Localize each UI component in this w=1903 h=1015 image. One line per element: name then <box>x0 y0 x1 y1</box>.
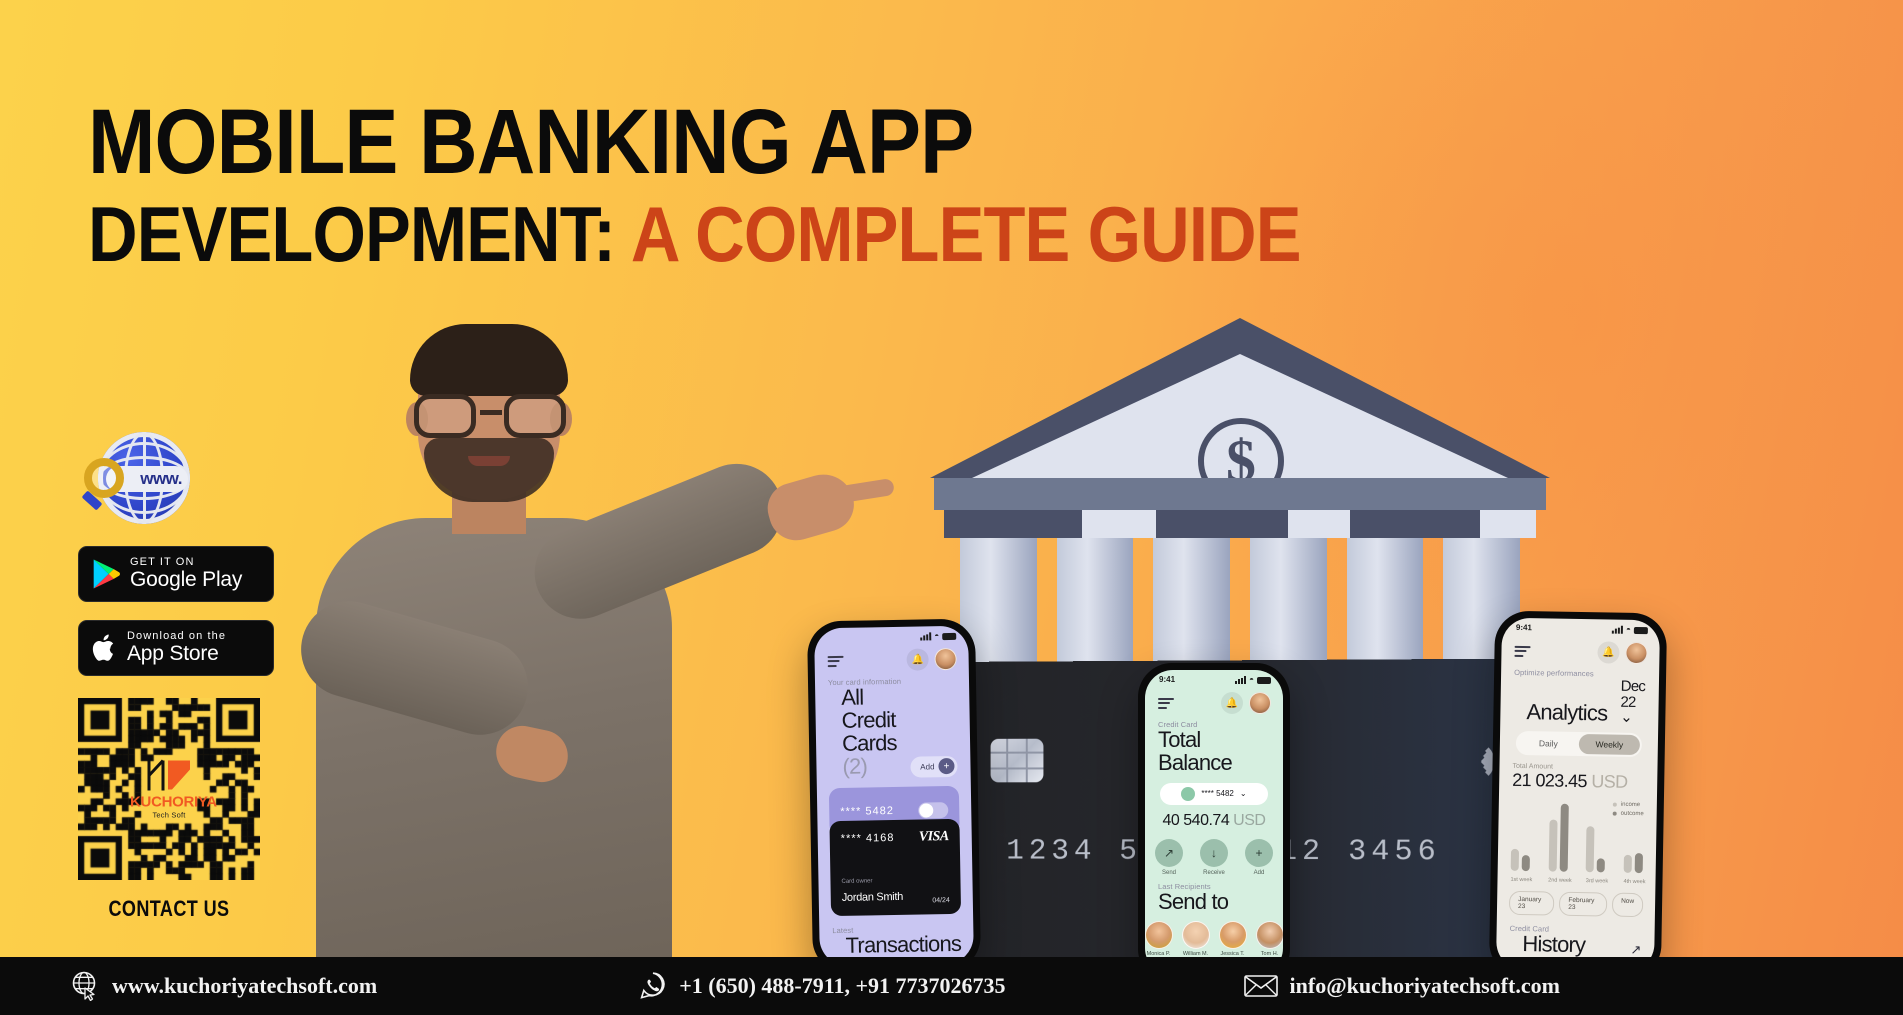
presenter-index-finger <box>839 478 895 503</box>
bar-outcome <box>1522 855 1530 871</box>
emv-chip-icon <box>991 739 1044 783</box>
bar-category-label: 1st week <box>1510 877 1532 883</box>
phone1-screen: ◓ 🔔 Your card information All Credit Car… <box>814 626 974 967</box>
recipient-name: William M. <box>1182 951 1210 957</box>
card-owner-label: Card owner <box>841 878 872 885</box>
avatar <box>1256 921 1284 949</box>
tab-weekly[interactable]: Weekly <box>1579 734 1640 755</box>
qr-center-logo: KUCHORIYA Tech Soft <box>130 759 208 820</box>
avatar[interactable] <box>1625 642 1647 664</box>
pill-january[interactable]: January 23 <box>1509 891 1555 916</box>
recipient-name: Tom H. <box>1256 951 1284 957</box>
wifi-icon: ◓ <box>1626 624 1631 633</box>
phone3-history-title: History <box>1509 933 1598 957</box>
menu-icon[interactable] <box>1158 698 1174 709</box>
bar-group: 2nd week <box>1548 803 1568 871</box>
recipient-name: Monica P. <box>1145 951 1173 957</box>
phone3-history-header: History ↗ <box>1496 932 1654 958</box>
apple-icon <box>91 632 118 664</box>
list-item[interactable]: Jessica T. <box>1219 921 1247 957</box>
phone1-transactions-title: Transactions <box>832 932 974 957</box>
phone1-title: All Credit Cards (2) <box>828 686 910 779</box>
qr-brand-tagline: Tech Soft <box>130 811 208 820</box>
card-selector-dropdown[interactable]: **** 5482 ⌄ <box>1160 783 1268 805</box>
presenter-mouth <box>468 456 510 466</box>
bar-income <box>1624 855 1632 873</box>
bank-architrave <box>934 478 1546 510</box>
phone3-title: Analytics <box>1513 701 1620 726</box>
google-play-top-label: GET IT ON <box>130 557 242 569</box>
footer-website[interactable]: www.kuchoriyatechsoft.com <box>72 971 377 1001</box>
card-toggle[interactable] <box>918 802 948 819</box>
bar-outcome <box>1597 858 1605 872</box>
tab-daily[interactable]: Daily <box>1518 733 1579 754</box>
bar-group: 1st week <box>1511 849 1530 871</box>
analytics-bar-chart: income outcome 1st week2nd week3rd week4… <box>1510 797 1643 885</box>
kuchoriya-logo-icon <box>146 759 192 793</box>
balance-value: 40 540.74 <box>1163 812 1230 829</box>
menu-icon[interactable] <box>828 655 844 666</box>
chevron-down-icon: ⌄ <box>1620 709 1632 726</box>
signal-icon <box>1612 626 1623 634</box>
period-toggle[interactable]: Daily Weekly <box>1516 731 1642 757</box>
phone2-screen: 9:41 ◓ 🔔 Credit Card Total Balance **** … <box>1145 670 1283 976</box>
bar-outcome <box>1635 853 1643 873</box>
google-play-bottom-label: Google Play <box>130 569 242 591</box>
bank-entablature-block-2 <box>1156 510 1288 538</box>
presenter-photo <box>300 330 770 970</box>
signal-icon <box>920 632 931 640</box>
add-button[interactable]: + Add <box>1245 839 1273 876</box>
footer-email[interactable]: info@kuchoriyatechsoft.com <box>1244 973 1560 999</box>
presenter-pointing-hand <box>762 467 861 546</box>
headline-line-2: DEVELOPMENT: A COMPLETE GUIDE <box>88 198 1338 271</box>
wifi-icon: ◓ <box>1249 675 1254 684</box>
card-selector-value: **** 5482 <box>1201 789 1233 798</box>
footer-website-text: www.kuchoriyatechsoft.com <box>112 973 377 999</box>
list-item[interactable]: Tom H. <box>1256 921 1284 957</box>
avatar <box>1219 921 1247 949</box>
magnifier-icon <box>84 458 124 498</box>
add-label: Add <box>1245 870 1273 876</box>
card-color-dot <box>1181 787 1195 801</box>
footer-email-text: info@kuchoriyatechsoft.com <box>1290 973 1560 999</box>
google-play-badge[interactable]: GET IT ON Google Play <box>78 546 274 602</box>
bar-income <box>1548 819 1557 871</box>
bar-group: 4th week <box>1624 853 1643 873</box>
contact-us-label: CONTACT US <box>94 896 243 922</box>
period-selector[interactable]: Dec 22 ⌄ <box>1620 679 1646 726</box>
receive-label: Receive <box>1200 870 1228 876</box>
recipient-name: Jessica T. <box>1219 951 1247 957</box>
www-globe-icon: www. <box>84 430 190 528</box>
list-item[interactable]: Monica P. <box>1145 921 1173 957</box>
phone2-statusbar: 9:41 ◓ <box>1145 670 1283 688</box>
send-label: Send <box>1155 870 1183 876</box>
send-icon: ↗ <box>1155 839 1183 867</box>
card-expiry: 04/24 <box>932 897 950 904</box>
bank-entablature-block-1 <box>944 510 1082 538</box>
analytics-amount: 21 023.45 <box>1512 770 1587 791</box>
chevron-down-icon: ⌄ <box>1240 789 1247 798</box>
phone1-card-stack: **** 5482 **** 4168 VISA Card owner Jord… <box>829 785 961 915</box>
send-button[interactable]: ↗ Send <box>1155 839 1183 876</box>
credit-card-secondary-number: **** 5482 <box>840 805 894 818</box>
avatar <box>1145 921 1173 949</box>
contactless-icon <box>1440 731 1495 792</box>
pill-now[interactable]: Now <box>1612 892 1643 917</box>
phone1-card-count: (2) <box>842 753 867 778</box>
credit-card-primary[interactable]: **** 4168 VISA Card owner Jordan Smith 0… <box>829 818 961 915</box>
google-play-icon <box>91 558 121 590</box>
globe-icon <box>72 971 100 1001</box>
presenter-beard <box>424 438 554 502</box>
app-store-top-label: Download on the <box>127 631 226 643</box>
plus-icon: + <box>1245 839 1273 867</box>
menu-icon[interactable] <box>1514 645 1530 656</box>
pill-february[interactable]: February 23 <box>1559 891 1607 916</box>
left-rail: www. GET IT ON Google Play Download on t… <box>78 430 288 922</box>
wifi-icon: ◓ <box>934 631 939 640</box>
phone3-time: 9:41 <box>1516 622 1532 631</box>
signal-icon <box>1235 676 1246 684</box>
total-amount-value: 21 023.45 USD <box>1499 769 1657 793</box>
recipients-list: Monica P. William M. Jessica T. Tom H. <box>1145 921 1283 957</box>
notification-bell-icon[interactable]: 🔔 <box>906 648 928 670</box>
whatsapp-phone-icon <box>639 971 667 1001</box>
bar-income <box>1586 826 1595 872</box>
phone2-time: 9:41 <box>1159 675 1175 684</box>
phone2-app-header: 🔔 <box>1145 688 1283 714</box>
bar-category-label: 3rd week <box>1586 878 1608 884</box>
phone-mockup-total-balance: 9:41 ◓ 🔔 Credit Card Total Balance **** … <box>1138 663 1290 983</box>
bar-category-label: 4th week <box>1623 879 1645 885</box>
month-filter-pills: January 23 February 23 Now <box>1509 891 1643 917</box>
phone1-title-text: All Credit Cards <box>841 685 897 756</box>
quick-actions: ↗ Send ↓ Receive + Add <box>1145 839 1283 876</box>
battery-icon <box>1634 626 1648 633</box>
phone3-app-header: 🔔 <box>1501 636 1659 665</box>
footer-phone-text: +1 (650) 488-7911, +91 7737026735 <box>679 973 1005 999</box>
phone1-transactions-header: Transactions ↗ <box>819 932 973 958</box>
qr-brand-name: KUCHORIYA <box>130 794 208 811</box>
notification-bell-icon[interactable]: 🔔 <box>1221 692 1243 714</box>
notification-bell-icon[interactable]: 🔔 <box>1597 641 1619 663</box>
phone2-title: Total Balance <box>1145 729 1283 775</box>
receive-button[interactable]: ↓ Receive <box>1200 839 1228 876</box>
app-store-bottom-label: App Store <box>127 643 226 665</box>
phone3-screen: 9:41 ◓ 🔔 Optimize performances Analytics… <box>1496 618 1660 973</box>
phone-mockup-analytics: 9:41 ◓ 🔔 Optimize performances Analytics… <box>1489 611 1667 980</box>
presenter-hair <box>410 324 568 396</box>
headline-accent: A COMPLETE GUIDE <box>615 190 1300 278</box>
list-item[interactable]: William M. <box>1182 921 1210 957</box>
avatar[interactable] <box>1249 692 1271 714</box>
headline-line-1: MOBILE BANKING APP <box>88 100 1338 186</box>
eyeglasses-icon <box>412 394 568 438</box>
battery-icon <box>942 632 956 639</box>
bar-category-label: 2nd week <box>1548 877 1572 883</box>
plus-icon: + <box>938 758 954 774</box>
phone-mockup-credit-cards: ◓ 🔔 Your card information All Credit Car… <box>807 619 981 974</box>
phone3-title-row: Analytics Dec 22 ⌄ <box>1500 677 1659 727</box>
visa-logo: VISA <box>919 829 949 846</box>
arrow-up-right-icon[interactable]: ↗ <box>1630 942 1641 958</box>
bar-outcome <box>1559 803 1568 871</box>
balance-currency: USD <box>1233 812 1265 829</box>
avatar <box>1182 921 1210 949</box>
add-card-label: Add <box>920 762 934 771</box>
avatar[interactable] <box>934 648 956 670</box>
headline-subject: DEVELOPMENT: <box>88 190 615 278</box>
phone1-app-header: 🔔 <box>814 644 968 673</box>
card-owner-name: Jordan Smith <box>842 890 903 903</box>
footer-contact-bar: www.kuchoriyatechsoft.com +1 (650) 488-7… <box>0 957 1903 1015</box>
page-title: MOBILE BANKING APP DEVELOPMENT: A COMPLE… <box>88 100 1508 270</box>
footer-phone[interactable]: +1 (650) 488-7911, +91 7737026735 <box>639 971 1005 1001</box>
phone3-eyebrow: Optimize performances <box>1501 662 1659 680</box>
phone2-send-to-title: Send to <box>1145 891 1283 914</box>
chart-bars: 1st week2nd week3rd week4th week <box>1511 799 1644 873</box>
analytics-currency: USD <box>1591 771 1628 792</box>
bar-group: 3rd week <box>1586 826 1606 872</box>
qr-code[interactable]: KUCHORIYA Tech Soft <box>78 698 260 880</box>
envelope-icon <box>1244 974 1278 998</box>
phone1-title-row: All Credit Cards (2) Add + <box>815 685 971 779</box>
credit-card-primary-number: **** 4168 <box>841 832 895 845</box>
battery-icon <box>1257 677 1271 684</box>
marketing-banner: MOBILE BANKING APP DEVELOPMENT: A COMPLE… <box>0 0 1903 1015</box>
app-store-badge[interactable]: Download on the App Store <box>78 620 274 676</box>
balance-amount: 40 540.74 USD <box>1145 812 1283 830</box>
receive-icon: ↓ <box>1200 839 1228 867</box>
add-card-button[interactable]: Add + <box>910 755 958 777</box>
bank-entablature-block-3 <box>1350 510 1480 538</box>
bar-income <box>1511 849 1519 871</box>
period-value: Dec 22 <box>1620 678 1645 711</box>
